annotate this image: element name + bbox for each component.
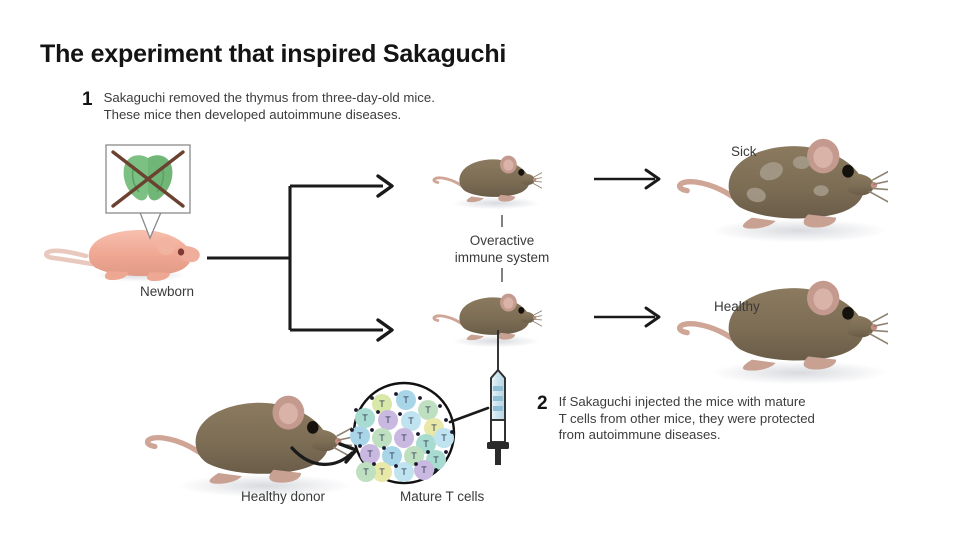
svg-text:T: T bbox=[362, 413, 368, 423]
illustration-layer: T T T T T T T T T T T T T T T T T T T T bbox=[0, 0, 969, 540]
step-2: 2 If Sakaguchi injected the mice with ma… bbox=[537, 394, 815, 444]
svg-text:T: T bbox=[363, 467, 369, 477]
caption-overactive-immune-system: Overactive immune system bbox=[455, 232, 550, 266]
t-cells-group: T T T T T T T T T T T T T T T T T T T T bbox=[350, 390, 454, 482]
healthy-mouse bbox=[680, 281, 905, 385]
svg-text:T: T bbox=[401, 433, 407, 443]
curved-arrow-donor-to-tcells bbox=[292, 444, 356, 464]
arrow-to-sick bbox=[594, 170, 659, 188]
step-1: 1 Sakaguchi removed the thymus from thre… bbox=[82, 90, 435, 123]
bald-patches bbox=[745, 156, 829, 204]
svg-text:T: T bbox=[389, 451, 395, 461]
svg-text:T: T bbox=[431, 423, 437, 433]
cross-out-icon bbox=[113, 152, 183, 206]
svg-text:T: T bbox=[421, 465, 427, 475]
svg-text:T: T bbox=[408, 416, 414, 426]
healthy-donor-mouse bbox=[147, 396, 367, 498]
thymus-removed-box bbox=[106, 145, 190, 238]
thymectomized-mouse-upper bbox=[434, 156, 550, 210]
svg-text:T: T bbox=[367, 449, 373, 459]
caption-sick: Sick bbox=[731, 144, 757, 159]
svg-text:T: T bbox=[385, 415, 391, 425]
t-cell-receptors bbox=[350, 392, 454, 472]
caption-mature-t-cells: Mature T cells bbox=[400, 489, 484, 504]
arrow-to-healthy bbox=[594, 308, 659, 326]
line-tcells-to-syringe bbox=[450, 408, 488, 422]
page-title: The experiment that inspired Sakaguchi bbox=[40, 40, 506, 69]
svg-text:T: T bbox=[379, 399, 385, 409]
svg-text:T: T bbox=[411, 451, 417, 461]
arrow-layer bbox=[0, 0, 969, 540]
caption-healthy-donor: Healthy donor bbox=[241, 489, 325, 504]
sick-mouse bbox=[680, 139, 905, 243]
thymus-icon bbox=[124, 155, 173, 200]
svg-text:T: T bbox=[423, 439, 429, 449]
branching-arrow bbox=[207, 176, 392, 340]
svg-text:T: T bbox=[357, 431, 363, 441]
diagram-canvas: The experiment that inspired Sakaguchi 1… bbox=[0, 0, 969, 540]
step-2-text: If Sakaguchi injected the mice with matu… bbox=[559, 394, 815, 444]
svg-text:T: T bbox=[403, 395, 409, 405]
step-1-number: 1 bbox=[82, 90, 93, 110]
newborn-mouse bbox=[46, 230, 200, 282]
caption-newborn: Newborn bbox=[140, 284, 194, 299]
svg-text:T: T bbox=[433, 455, 439, 465]
svg-text:T: T bbox=[401, 467, 407, 477]
svg-text:T: T bbox=[441, 433, 447, 443]
syringe bbox=[487, 330, 509, 465]
mature-t-cells-circle: T T T T T T T T T T T T T T T T T T T T bbox=[350, 383, 454, 483]
svg-text:T: T bbox=[379, 467, 385, 477]
svg-text:T: T bbox=[379, 433, 385, 443]
thymectomized-mouse-lower bbox=[434, 294, 550, 348]
step-1-text: Sakaguchi removed the thymus from three-… bbox=[104, 90, 435, 123]
caption-healthy: Healthy bbox=[714, 299, 760, 314]
svg-text:T: T bbox=[425, 405, 431, 415]
step-2-number: 2 bbox=[537, 394, 548, 414]
